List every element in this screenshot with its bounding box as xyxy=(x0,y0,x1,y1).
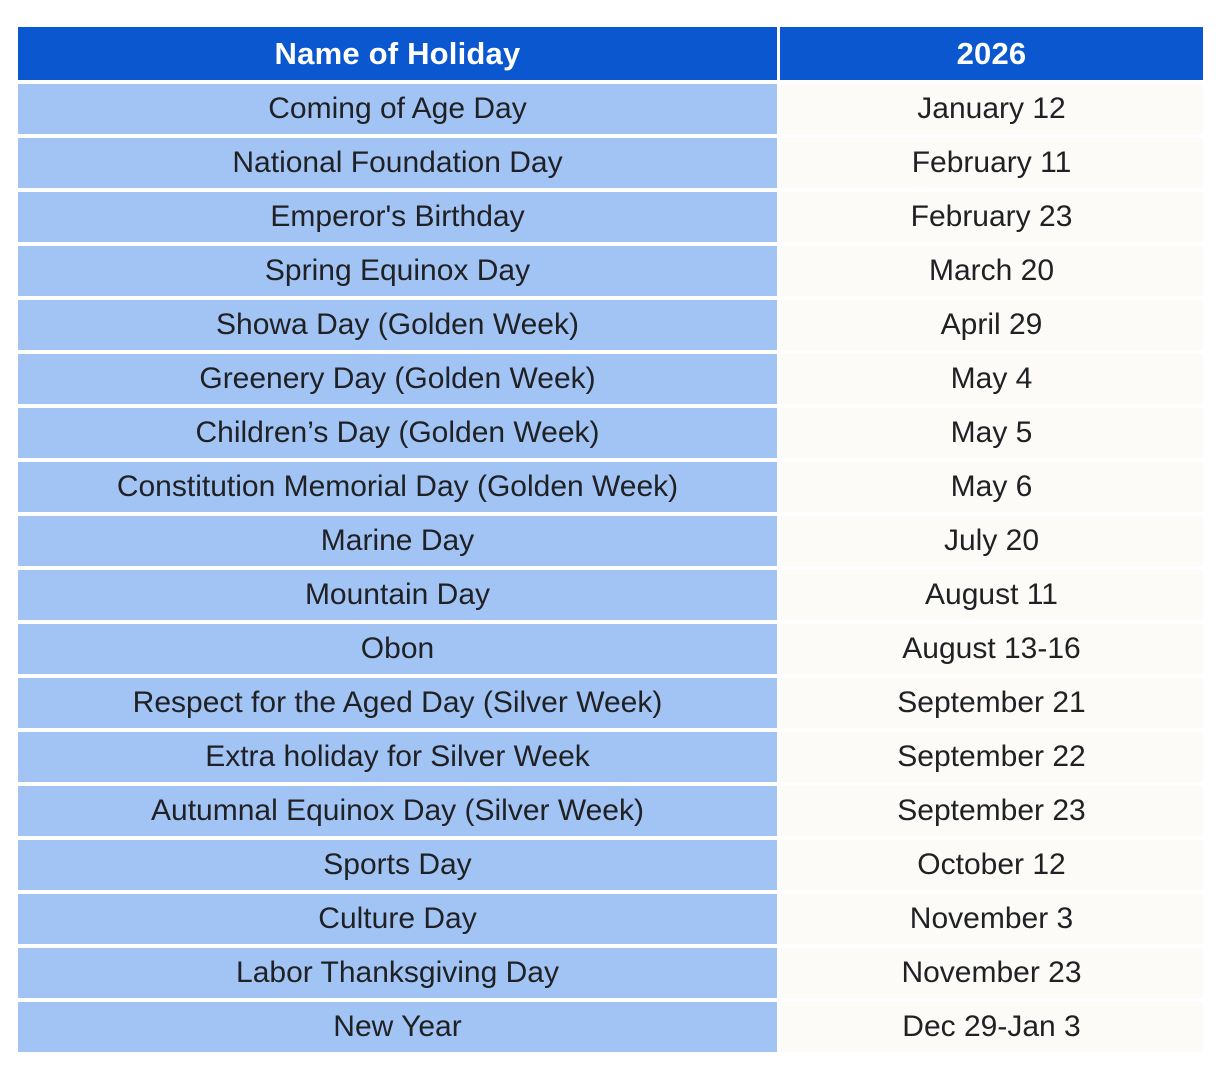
table-row: Coming of Age DayJanuary 12 xyxy=(18,80,1203,134)
holiday-date-cell: March 20 xyxy=(780,242,1203,296)
holiday-table-container: Name of Holiday 2026 Coming of Age DayJa… xyxy=(18,27,1203,1072)
table-row: Marine DayJuly 20 xyxy=(18,512,1203,566)
holiday-date-cell: February 11 xyxy=(780,134,1203,188)
holiday-date-cell: September 22 xyxy=(780,728,1203,782)
table-row: Showa Day (Golden Week)April 29 xyxy=(18,296,1203,350)
holiday-date-cell: May 6 xyxy=(780,458,1203,512)
holiday-date-cell: October 12 xyxy=(780,836,1203,890)
holiday-name-cell: Emperor's Birthday xyxy=(18,188,780,242)
table-row: Constitution Memorial Day (Golden Week)M… xyxy=(18,458,1203,512)
holiday-date-cell: August 11 xyxy=(780,566,1203,620)
holiday-name-cell: Labor Thanksgiving Day xyxy=(18,944,780,998)
holiday-date-cell: August 13-16 xyxy=(780,620,1203,674)
holiday-date-cell: November 23 xyxy=(780,944,1203,998)
holiday-date-cell: May 4 xyxy=(780,350,1203,404)
holiday-name-cell: New Year xyxy=(18,998,780,1052)
holiday-name-cell: Coming of Age Day xyxy=(18,80,780,134)
holiday-name-cell: National Foundation Day xyxy=(18,134,780,188)
holiday-name-cell: Autumnal Equinox Day (Silver Week) xyxy=(18,782,780,836)
table-header: Name of Holiday 2026 xyxy=(18,27,1203,80)
holiday-date-cell: November 3 xyxy=(780,890,1203,944)
holiday-date-cell: May 5 xyxy=(780,404,1203,458)
table-header-row: Name of Holiday 2026 xyxy=(18,27,1203,80)
table-row: Extra holiday for Silver WeekSeptember 2… xyxy=(18,728,1203,782)
holiday-name-cell: Sports Day xyxy=(18,836,780,890)
table-row: Children’s Day (Golden Week)May 5 xyxy=(18,404,1203,458)
holiday-name-cell: Showa Day (Golden Week) xyxy=(18,296,780,350)
holiday-date-cell: April 29 xyxy=(780,296,1203,350)
table-row: Culture DayNovember 3 xyxy=(18,890,1203,944)
table-row: Sports DayOctober 12 xyxy=(18,836,1203,890)
holiday-name-cell: Culture Day xyxy=(18,890,780,944)
holiday-name-cell: Marine Day xyxy=(18,512,780,566)
holiday-name-cell: Respect for the Aged Day (Silver Week) xyxy=(18,674,780,728)
table-row: New YearDec 29-Jan 3 xyxy=(18,998,1203,1052)
table-row: ObonAugust 13-16 xyxy=(18,620,1203,674)
table-row: Emperor's BirthdayFebruary 23 xyxy=(18,188,1203,242)
holiday-date-cell: February 23 xyxy=(780,188,1203,242)
holiday-name-cell: Greenery Day (Golden Week) xyxy=(18,350,780,404)
table-row: National Foundation DayFebruary 11 xyxy=(18,134,1203,188)
table-row: Labor Thanksgiving DayNovember 23 xyxy=(18,944,1203,998)
table-row: Greenery Day (Golden Week)May 4 xyxy=(18,350,1203,404)
holiday-date-cell: September 21 xyxy=(780,674,1203,728)
holiday-date-cell: Dec 29-Jan 3 xyxy=(780,998,1203,1052)
column-header-name-of-holiday: Name of Holiday xyxy=(18,27,780,80)
table-row: Mountain DayAugust 11 xyxy=(18,566,1203,620)
holiday-date-cell: July 20 xyxy=(780,512,1203,566)
holiday-name-cell: Obon xyxy=(18,620,780,674)
holiday-date-cell: September 23 xyxy=(780,782,1203,836)
table-row: Autumnal Equinox Day (Silver Week)Septem… xyxy=(18,782,1203,836)
holiday-date-cell: January 12 xyxy=(780,80,1203,134)
table-body: Coming of Age DayJanuary 12National Foun… xyxy=(18,80,1203,1052)
table-row: Spring Equinox DayMarch 20 xyxy=(18,242,1203,296)
table-row: Respect for the Aged Day (Silver Week)Se… xyxy=(18,674,1203,728)
japan-holidays-table: Name of Holiday 2026 Coming of Age DayJa… xyxy=(18,27,1203,1052)
holiday-name-cell: Spring Equinox Day xyxy=(18,242,780,296)
holiday-name-cell: Children’s Day (Golden Week) xyxy=(18,404,780,458)
holiday-name-cell: Extra holiday for Silver Week xyxy=(18,728,780,782)
column-header-year: 2026 xyxy=(780,27,1203,80)
holiday-name-cell: Constitution Memorial Day (Golden Week) xyxy=(18,458,780,512)
holiday-name-cell: Mountain Day xyxy=(18,566,780,620)
